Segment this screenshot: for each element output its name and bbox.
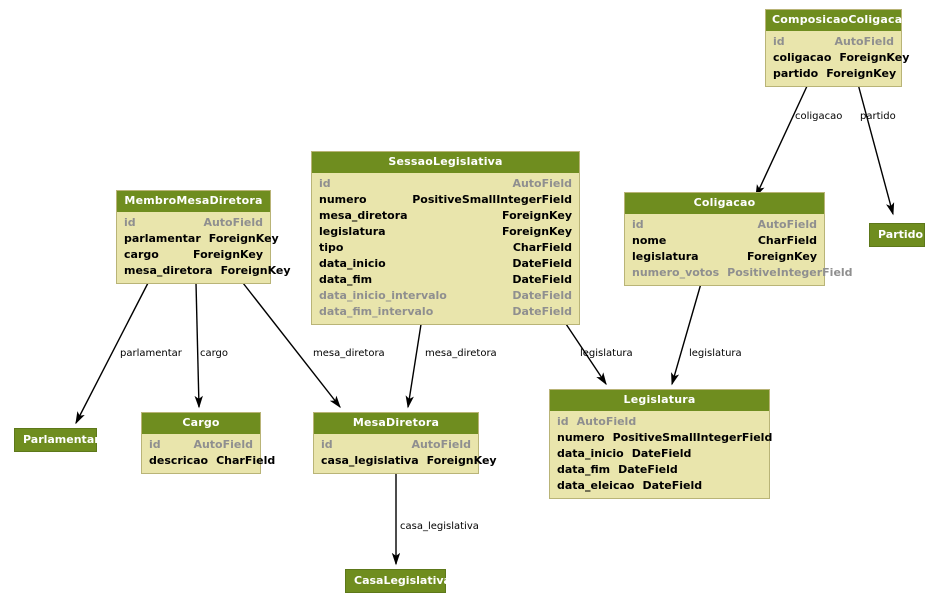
field-type: DateField [512,288,572,304]
field-row: data_inicio_intervaloDateField [312,288,579,304]
entity-fields-legislatura: idAutoFieldnumeroPositiveSmallIntegerFie… [550,411,769,498]
field-row: legislaturaForeignKey [625,249,824,265]
field-row: idAutoField [117,215,270,231]
field-name: id [149,437,169,453]
field-name: data_fim [319,272,380,288]
entity-fields-cargo: idAutoFielddescricaoCharField [142,434,260,473]
entity-table-membro_mesa_diretora[interactable]: MembroMesaDiretoraidAutoFieldparlamentar… [116,190,271,284]
field-name: parlamentar [124,231,209,247]
field-type: ForeignKey [427,453,497,469]
field-type: ForeignKey [747,249,817,265]
field-row: mesa_diretoraForeignKey [312,208,579,224]
field-row: casa_legislativaForeignKey [314,453,478,469]
field-type: PositiveIntegerField [727,265,852,281]
field-name: casa_legislativa [321,453,427,469]
entity-title-composicao_coligacao: ComposicaoColigacao [766,10,901,31]
field-type: AutoField [203,215,263,231]
edge-line-edge-sessao-mesa [408,318,422,407]
field-row: descricaoCharField [142,453,260,469]
entity-table-coligacao[interactable]: ColigacaoidAutoFieldnomeCharFieldlegisla… [624,192,825,286]
edge-label-edge-composicao-coligacao: coligacao [795,111,842,122]
field-type: AutoField [411,437,471,453]
edge-label-edge-membro-parlamentar: parlamentar [120,348,183,359]
entity-fields-composicao_coligacao: idAutoFieldcoligacaoForeignKeypartidoFor… [766,31,901,86]
field-row: numeroPositiveSmallIntegerField [550,430,769,446]
field-row: idAutoField [766,34,901,50]
field-row: legislaturaForeignKey [312,224,579,240]
field-name: id [773,34,793,50]
field-name: data_inicio_intervalo [319,288,455,304]
entity-node-parlamentar[interactable]: Parlamentar [14,428,97,452]
field-type: ForeignKey [826,66,896,82]
field-type: AutoField [577,414,637,430]
field-type: AutoField [193,437,253,453]
field-type: DateField [512,304,572,320]
entity-title-coligacao: Coligacao [625,193,824,214]
field-name: data_inicio [557,446,632,462]
field-row: cargoForeignKey [117,247,270,263]
entity-table-legislatura[interactable]: LegislaturaidAutoFieldnumeroPositiveSmal… [549,389,770,499]
edge-line-edge-composicao-partido [858,84,893,214]
field-name: numero_votos [632,265,727,281]
entity-table-sessao_legislativa[interactable]: SessaoLegislativaidAutoFieldnumeroPositi… [311,151,580,325]
field-type: CharField [513,240,572,256]
field-row: data_fim_intervaloDateField [312,304,579,320]
field-row: coligacaoForeignKey [766,50,901,66]
edge-label-edge-coligacao-legislatura: legislatura [689,348,742,359]
field-type: CharField [216,453,275,469]
field-name: id [321,437,341,453]
field-row: data_fimDateField [550,462,769,478]
entity-title-membro_mesa_diretora: MembroMesaDiretora [117,191,270,212]
entity-fields-coligacao: idAutoFieldnomeCharFieldlegislaturaForei… [625,214,824,285]
edge-line-edge-coligacao-legislatura [672,280,702,384]
field-row: data_inicioDateField [550,446,769,462]
field-name: id [632,217,652,233]
field-name: coligacao [773,50,839,66]
field-name: tipo [319,240,351,256]
field-type: ForeignKey [502,224,572,240]
entity-table-composicao_coligacao[interactable]: ComposicaoColigacaoidAutoFieldcoligacaoF… [765,9,902,87]
field-row: mesa_diretoraForeignKey [117,263,270,279]
field-row: idAutoField [314,437,478,453]
field-name: data_inicio [319,256,394,272]
field-type: DateField [632,446,692,462]
field-name: partido [773,66,826,82]
field-name: numero [557,430,613,446]
field-name: id [557,414,577,430]
entity-table-cargo[interactable]: CargoidAutoFielddescricaoCharField [141,412,261,474]
entity-node-casa_legislativa[interactable]: CasaLegislativa [345,569,446,593]
field-type: AutoField [757,217,817,233]
field-name: data_fim_intervalo [319,304,441,320]
field-name: legislatura [632,249,707,265]
entity-table-mesa_diretora[interactable]: MesaDiretoraidAutoFieldcasa_legislativaF… [313,412,479,474]
field-type: DateField [512,256,572,272]
field-type: ForeignKey [839,50,909,66]
field-type: ForeignKey [193,247,263,263]
edge-line-edge-membro-cargo [196,283,199,407]
field-name: mesa_diretora [124,263,221,279]
entity-fields-membro_mesa_diretora: idAutoFieldparlamentarForeignKeycargoFor… [117,212,270,283]
field-name: descricao [149,453,216,469]
field-row: idAutoField [312,176,579,192]
field-row: idAutoField [625,217,824,233]
field-name: id [124,215,144,231]
edge-line-edge-sessao-legislatura [562,318,606,384]
field-name: legislatura [319,224,394,240]
field-type: PositiveSmallIntegerField [613,430,773,446]
field-name: numero [319,192,375,208]
field-type: PositiveSmallIntegerField [412,192,572,208]
edge-line-edge-composicao-coligacao [756,84,808,196]
field-name: mesa_diretora [319,208,416,224]
field-row: partidoForeignKey [766,66,901,82]
edge-label-edge-mesa-casa: casa_legislativa [400,521,479,532]
field-row: parlamentarForeignKey [117,231,270,247]
field-type: AutoField [512,176,572,192]
diagram-canvas: coligacaopartidolegislaturalegislaturame… [0,0,940,611]
edge-label-edge-membro-mesa: mesa_diretora [313,348,385,359]
field-type: AutoField [834,34,894,50]
field-type: DateField [512,272,572,288]
entity-fields-sessao_legislativa: idAutoFieldnumeroPositiveSmallIntegerFie… [312,173,579,324]
edge-line-edge-membro-parlamentar [76,283,148,423]
field-row: data_eleicaoDateField [550,478,769,494]
field-name: data_eleicao [557,478,642,494]
field-type: ForeignKey [209,231,279,247]
field-row: tipoCharField [312,240,579,256]
field-name: id [319,176,339,192]
field-row: nomeCharField [625,233,824,249]
field-type: ForeignKey [221,263,291,279]
field-row: numeroPositiveSmallIntegerField [312,192,579,208]
edge-label-edge-composicao-partido: partido [860,111,896,122]
entity-title-sessao_legislativa: SessaoLegislativa [312,152,579,173]
entity-title-cargo: Cargo [142,413,260,434]
field-name: cargo [124,247,167,263]
field-row: data_fimDateField [312,272,579,288]
field-type: CharField [758,233,817,249]
field-name: nome [632,233,674,249]
entity-title-legislatura: Legislatura [550,390,769,411]
field-row: numero_votosPositiveIntegerField [625,265,824,281]
edge-label-edge-sessao-mesa: mesa_diretora [425,348,497,359]
edge-label-edge-membro-cargo: cargo [200,348,228,359]
field-type: DateField [642,478,702,494]
field-row: data_inicioDateField [312,256,579,272]
edge-label-edge-sessao-legislatura: legislatura [580,348,633,359]
field-type: DateField [618,462,678,478]
entity-title-mesa_diretora: MesaDiretora [314,413,478,434]
entity-node-partido[interactable]: Partido [869,223,925,247]
entity-fields-mesa_diretora: idAutoFieldcasa_legislativaForeignKey [314,434,478,473]
field-row: idAutoField [550,414,769,430]
field-row: idAutoField [142,437,260,453]
field-type: ForeignKey [502,208,572,224]
field-name: data_fim [557,462,618,478]
